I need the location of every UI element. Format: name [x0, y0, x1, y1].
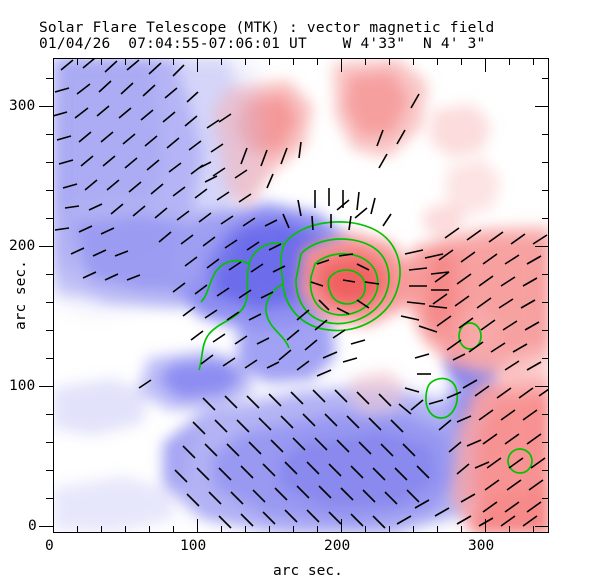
- y-tick-label-300: 300: [9, 98, 35, 114]
- x-tick-label-100: 100: [180, 538, 206, 554]
- y-axis-title: arc sec.: [13, 260, 29, 330]
- magnetogram-plot-area[interactable]: [53, 58, 549, 533]
- page-title: Solar Flare Telescope (MTK) : vector mag…: [39, 20, 494, 36]
- x-tick-label-200: 200: [324, 538, 350, 554]
- x-tick-label-300: 300: [468, 538, 494, 554]
- y-tick-label-0: 0: [28, 518, 37, 534]
- x-axis-title: arc sec.: [273, 563, 343, 579]
- magnetogram-image: [53, 58, 549, 533]
- observation-subtitle: 01/04/26 07:04:55-07:06:01 UT W 4'33" N …: [39, 36, 486, 52]
- x-tick-label-0: 0: [45, 538, 54, 554]
- y-tick-label-100: 100: [9, 378, 35, 394]
- y-tick-label-200: 200: [9, 238, 35, 254]
